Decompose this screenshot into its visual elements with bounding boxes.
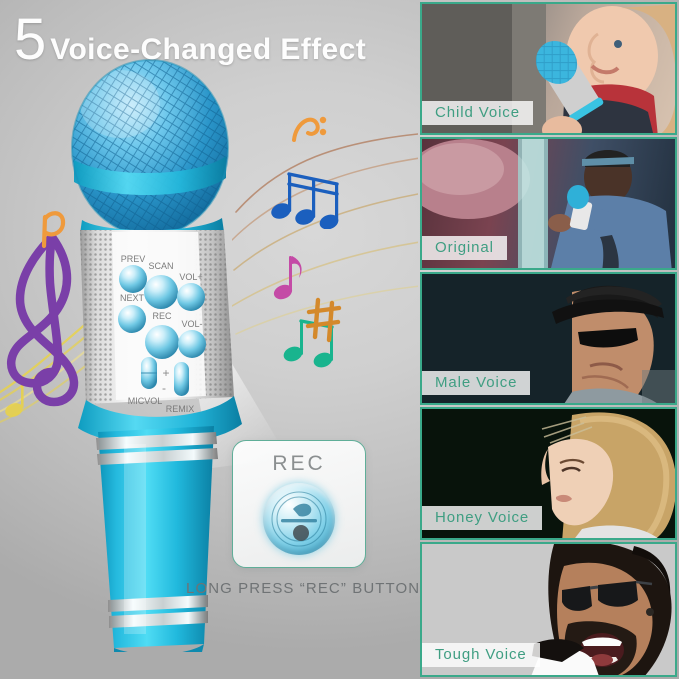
page-title: 5 Voice-Changed Effect — [14, 14, 366, 67]
plus-sign: + — [162, 366, 169, 380]
scan-button: SCAN — [144, 261, 178, 309]
svg-text:VOL-: VOL- — [181, 319, 202, 329]
title-number: 5 — [14, 14, 45, 66]
callout-caption: LONG PRESS “REC” BUTTON — [186, 580, 412, 597]
rec-button-closeup-icon — [263, 483, 335, 555]
sharp-sign-icon — [305, 295, 345, 343]
svg-text:SCAN: SCAN — [148, 261, 173, 271]
svg-text:PREV: PREV — [121, 254, 146, 264]
photo-original-voice[interactable]: Original — [420, 137, 677, 270]
next-button: NEXT — [118, 293, 146, 333]
callout-title: REC — [272, 452, 325, 476]
photo-label: Male Voice — [422, 371, 530, 395]
svg-text:REC: REC — [152, 311, 172, 321]
minus-sign: - — [162, 381, 166, 395]
microphone-handle — [96, 426, 218, 652]
photo-male-voice[interactable]: Male Voice — [420, 272, 677, 405]
product-infographic: 5 Voice-Changed Effect — [0, 0, 679, 679]
svg-text:REMIX: REMIX — [166, 404, 195, 414]
volume-down-button: VOL- — [178, 319, 206, 358]
product-showcase-panel: 5 Voice-Changed Effect — [0, 0, 418, 679]
svg-text:VOL+: VOL+ — [179, 272, 202, 282]
photo-tough-voice[interactable]: Tough Voice — [420, 542, 677, 677]
svg-text:MICVOL: MICVOL — [128, 396, 163, 406]
photo-label: Tough Voice — [422, 643, 540, 667]
photo-label: Child Voice — [422, 101, 533, 125]
photo-honey-voice[interactable]: Honey Voice — [420, 407, 677, 540]
photo-label: Honey Voice — [422, 506, 542, 530]
rec-callout-card: REC — [232, 440, 366, 568]
photo-child-voice[interactable]: Child Voice — [420, 2, 677, 135]
volume-up-button: VOL+ — [177, 272, 205, 311]
prev-button: PREV — [119, 254, 147, 293]
title-text: Voice-Changed Effect — [50, 33, 366, 67]
microphone-body: PREV SCAN VOL+ NEXT — [76, 228, 238, 414]
photo-label: Original — [422, 236, 507, 260]
voice-effect-gallery: Child Voice — [418, 0, 679, 679]
svg-text:NEXT: NEXT — [120, 293, 145, 303]
microphone-grille — [68, 56, 238, 246]
